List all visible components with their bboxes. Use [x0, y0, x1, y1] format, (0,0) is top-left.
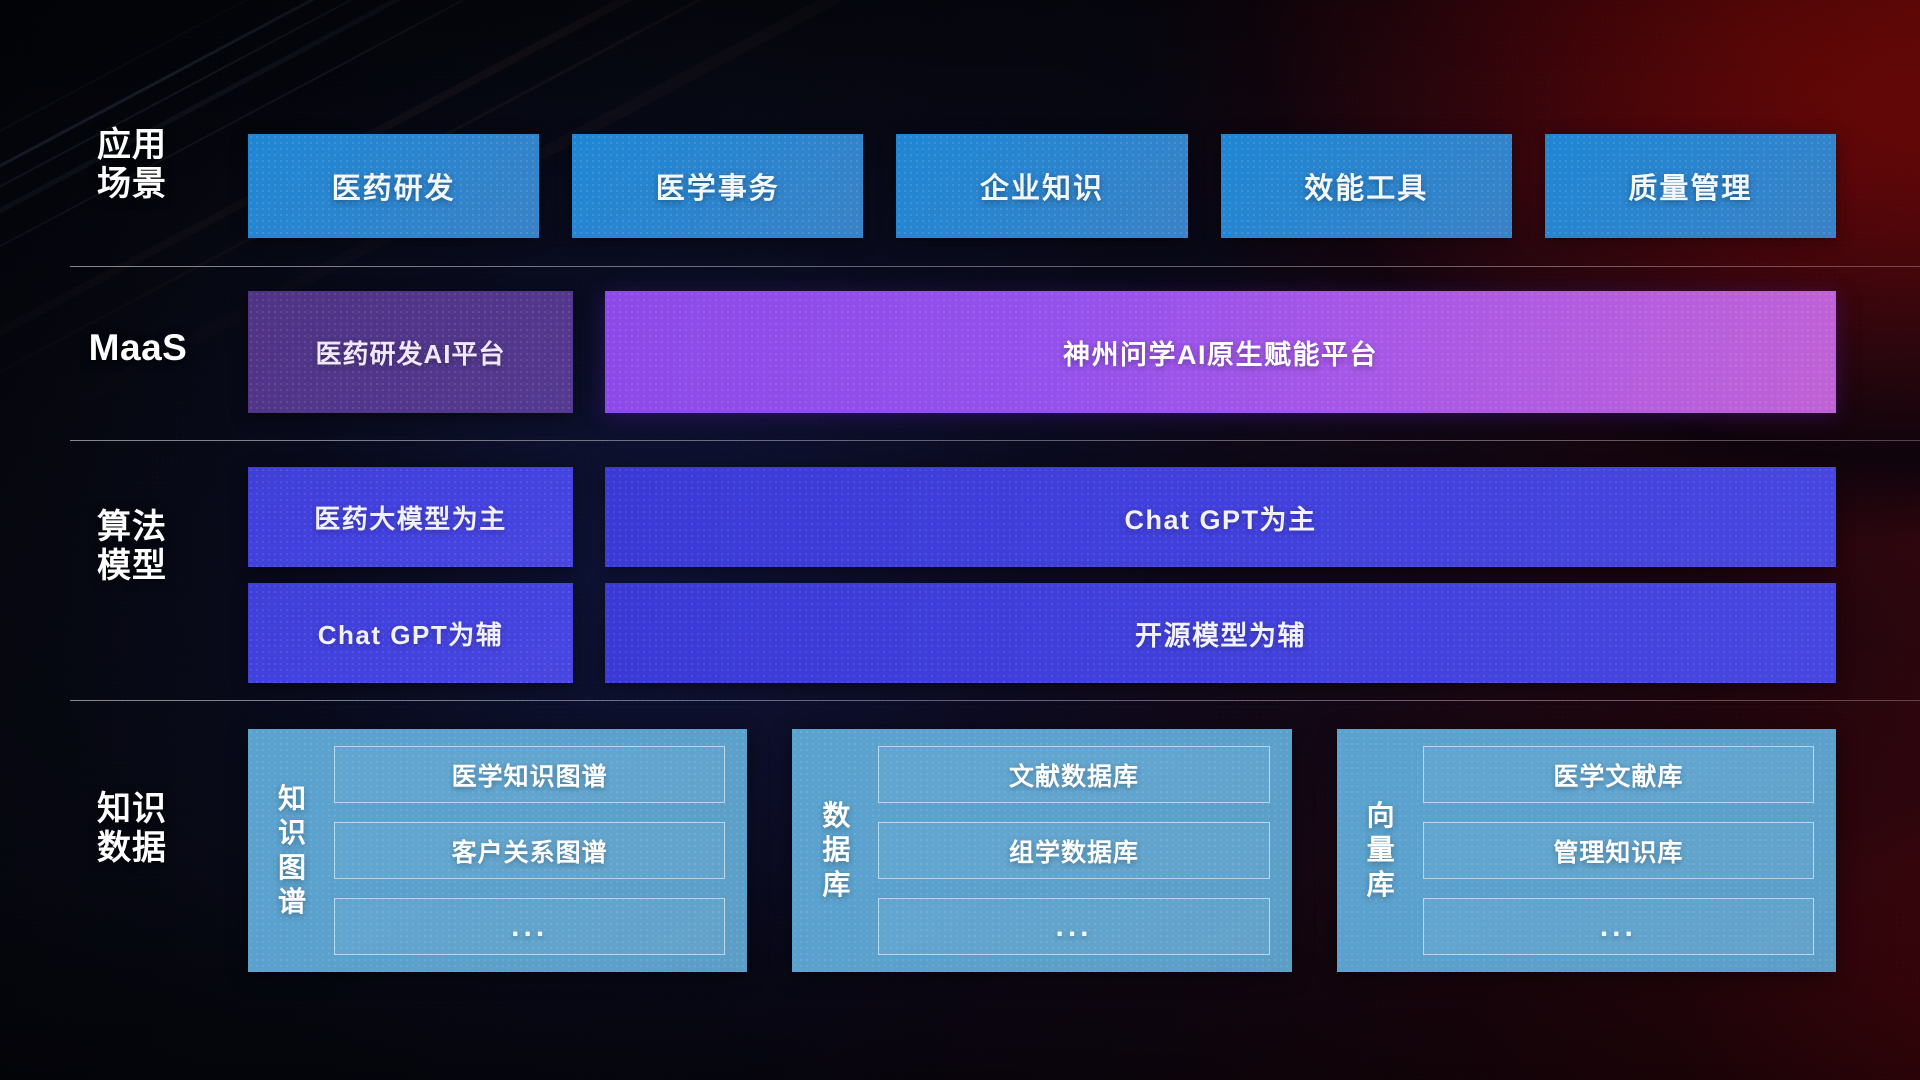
algo-card-opensource-secondary[interactable]: 开源模型为辅 — [605, 583, 1836, 683]
app-card-quality-management[interactable]: 质量管理 — [1545, 134, 1836, 238]
divider-maas-algorithm — [70, 440, 1920, 441]
algorithm-model-row: 医药大模型为主 Chat GPT为主 Chat GPT为辅 开源模型为辅 — [248, 467, 1836, 683]
knowledge-item-more[interactable]: ... — [334, 898, 725, 955]
knowledge-group-items: 医学知识图谱 客户关系图谱 ... — [334, 746, 725, 955]
knowledge-group-database: 数据库 文献数据库 组学数据库 ... — [792, 729, 1291, 972]
maas-row: 医药研发AI平台 神州问学AI原生赋能平台 — [248, 291, 1836, 413]
app-card-label: 效能工具 — [1304, 165, 1428, 207]
row-label-maas: MaaS — [78, 327, 198, 370]
algo-card-label: 开源模型为辅 — [1135, 614, 1306, 653]
knowledge-group-vector-store: 向量库 医学文献库 管理知识库 ... — [1337, 729, 1836, 972]
algo-card-label: Chat GPT为主 — [1124, 498, 1316, 537]
knowledge-item-more[interactable]: ... — [1423, 898, 1814, 955]
divider-algorithm-knowledge — [70, 700, 1920, 701]
algorithm-model-line-primary: 医药大模型为主 Chat GPT为主 — [248, 467, 1836, 567]
divider-application-maas — [70, 266, 1920, 267]
knowledge-item-medical-knowledge-graph[interactable]: 医学知识图谱 — [334, 746, 725, 803]
app-card-label: 医学事务 — [656, 165, 780, 207]
row-label-algorithm: 算法 模型 — [78, 508, 186, 587]
knowledge-data-row: 知识图谱 医学知识图谱 客户关系图谱 ... 数据库 文献数据库 组学数据库 .… — [248, 729, 1836, 972]
app-card-enterprise-knowledge[interactable]: 企业知识 — [896, 134, 1187, 238]
knowledge-item-medical-literature-store[interactable]: 医学文献库 — [1423, 746, 1814, 803]
maas-card-pharma-ai-platform[interactable]: 医药研发AI平台 — [248, 291, 573, 413]
maas-card-label: 医药研发AI平台 — [315, 334, 505, 371]
maas-card-shenzhou-wenxue-platform[interactable]: 神州问学AI原生赋能平台 — [605, 291, 1836, 413]
algo-card-label: Chat GPT为辅 — [318, 615, 503, 652]
knowledge-item-omics-database[interactable]: 组学数据库 — [878, 822, 1269, 879]
algo-card-pharma-large-model-primary[interactable]: 医药大模型为主 — [248, 467, 573, 567]
knowledge-group-knowledge-graph: 知识图谱 医学知识图谱 客户关系图谱 ... — [248, 729, 747, 972]
knowledge-group-title: 知识图谱 — [264, 746, 320, 955]
application-scenario-row: 医药研发 医学事务 企业知识 效能工具 质量管理 — [248, 134, 1836, 238]
app-card-medicine-rd[interactable]: 医药研发 — [248, 134, 539, 238]
app-card-medical-affairs[interactable]: 医学事务 — [572, 134, 863, 238]
knowledge-group-title: 向量库 — [1353, 746, 1409, 955]
app-card-label: 质量管理 — [1628, 165, 1752, 207]
algo-card-chatgpt-primary[interactable]: Chat GPT为主 — [605, 467, 1836, 567]
algorithm-model-line-secondary: Chat GPT为辅 开源模型为辅 — [248, 583, 1836, 683]
knowledge-group-items: 文献数据库 组学数据库 ... — [878, 746, 1269, 955]
algo-card-label: 医药大模型为主 — [314, 499, 507, 536]
knowledge-item-customer-relation-graph[interactable]: 客户关系图谱 — [334, 822, 725, 879]
app-card-label: 企业知识 — [980, 165, 1104, 207]
knowledge-item-more[interactable]: ... — [878, 898, 1269, 955]
knowledge-item-literature-database[interactable]: 文献数据库 — [878, 746, 1269, 803]
algo-card-chatgpt-secondary[interactable]: Chat GPT为辅 — [248, 583, 573, 683]
row-label-knowledge: 知识 数据 — [78, 790, 186, 869]
knowledge-group-title: 数据库 — [808, 746, 864, 955]
architecture-diagram: 应用 场景 MaaS 算法 模型 知识 数据 医药研发 医学事务 企业知识 效能… — [0, 0, 1920, 1080]
row-label-application: 应用 场景 — [78, 126, 186, 205]
maas-card-label: 神州问学AI原生赋能平台 — [1063, 333, 1378, 372]
knowledge-item-management-knowledge-store[interactable]: 管理知识库 — [1423, 822, 1814, 879]
app-card-label: 医药研发 — [332, 165, 456, 207]
knowledge-group-items: 医学文献库 管理知识库 ... — [1423, 746, 1814, 955]
app-card-efficiency-tools[interactable]: 效能工具 — [1221, 134, 1512, 238]
